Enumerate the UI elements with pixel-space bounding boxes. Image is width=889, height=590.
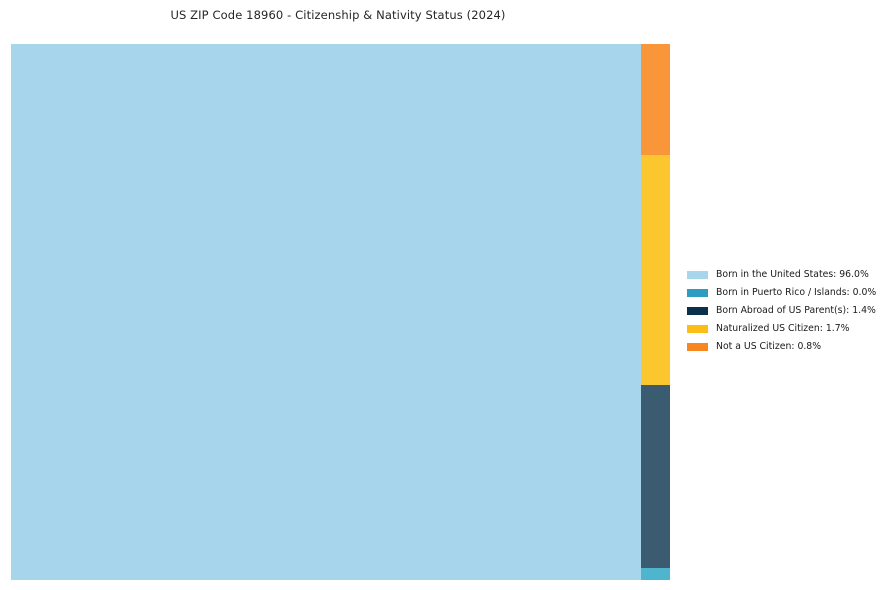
treemap-tile[interactable]	[641, 385, 670, 568]
treemap-tile[interactable]	[641, 568, 670, 580]
legend-item[interactable]: Born Abroad of US Parent(s): 1.4%	[687, 302, 883, 320]
legend-item-label: Not a US Citizen: 0.8%	[716, 342, 821, 351]
legend-color-swatch	[687, 289, 708, 297]
page-title: US ZIP Code 18960 - Citizenship & Nativi…	[0, 8, 676, 22]
figure-canvas: US ZIP Code 18960 - Citizenship & Nativi…	[0, 0, 889, 590]
chart-legend: Born in the United States: 96.0%Born in …	[687, 266, 883, 356]
legend-item-label: Born in the United States: 96.0%	[716, 270, 869, 279]
legend-item-label: Naturalized US Citizen: 1.7%	[716, 324, 850, 333]
legend-item[interactable]: Born in the United States: 96.0%	[687, 266, 883, 284]
legend-item[interactable]: Naturalized US Citizen: 1.7%	[687, 320, 883, 338]
legend-item-label: Born Abroad of US Parent(s): 1.4%	[716, 306, 876, 315]
legend-color-swatch	[687, 343, 708, 351]
legend-item-label: Born in Puerto Rico / Islands: 0.0%	[716, 288, 876, 297]
legend-color-swatch	[687, 271, 708, 279]
treemap-tile[interactable]	[11, 44, 641, 580]
treemap-plot-area	[11, 44, 670, 580]
legend-item[interactable]: Born in Puerto Rico / Islands: 0.0%	[687, 284, 883, 302]
legend-item[interactable]: Not a US Citizen: 0.8%	[687, 338, 883, 356]
treemap-tile[interactable]	[641, 44, 670, 155]
treemap-tile[interactable]	[641, 155, 670, 385]
legend-color-swatch	[687, 325, 708, 333]
legend-color-swatch	[687, 307, 708, 315]
